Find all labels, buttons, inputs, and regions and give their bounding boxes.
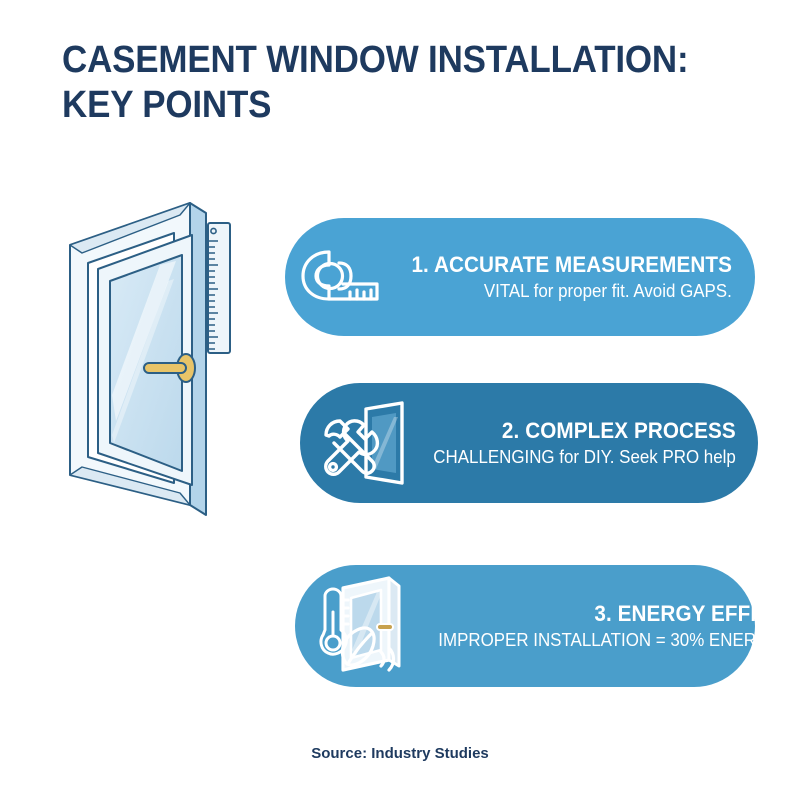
- page-title: CASEMENT WINDOW INSTALLATION: KEY POINTS: [62, 38, 688, 128]
- key-point-card-3-title: 3. ENERGY EFFICIENCY: [594, 601, 800, 626]
- key-point-card-2-text: 2. COMPLEX PROCESS CHALLENGING for DIY. …: [414, 418, 736, 468]
- ruler-icon: [208, 223, 230, 353]
- hammer-wrench-window-icon: [310, 391, 414, 495]
- page-title-line-2: KEY POINTS: [62, 83, 688, 128]
- key-point-card-3[interactable]: 3. ENERGY EFFICIENCY IMPROPER INSTALLATI…: [295, 565, 755, 687]
- tape-measure-icon: [299, 246, 391, 308]
- key-point-card-1[interactable]: 1. ACCURATE MEASUREMENTS VITAL for prope…: [285, 218, 755, 336]
- key-point-card-3-subtitle: IMPROPER INSTALLATION = 30% ENERGY LOSS.: [438, 630, 800, 651]
- key-point-card-3-text: 3. ENERGY EFFICIENCY IMPROPER INSTALLATI…: [413, 601, 800, 651]
- open-casement-window-illustration: [40, 185, 280, 535]
- page-title-line-1: CASEMENT WINDOW INSTALLATION:: [62, 38, 688, 83]
- key-point-card-2-title: 2. COMPLEX PROCESS: [502, 418, 736, 443]
- source-footer: Source: Industry Studies: [0, 745, 800, 762]
- thermometer-leaf-window-icon: [303, 570, 413, 682]
- key-point-card-1-title: 1. ACCURATE MEASUREMENTS: [411, 252, 732, 277]
- key-point-card-2-subtitle: CHALLENGING for DIY. Seek PRO help: [434, 447, 736, 468]
- key-point-card-2[interactable]: 2. COMPLEX PROCESS CHALLENGING for DIY. …: [300, 383, 758, 503]
- key-point-card-1-text: 1. ACCURATE MEASUREMENTS VITAL for prope…: [391, 252, 732, 302]
- key-point-card-1-subtitle: VITAL for proper fit. Avoid GAPS.: [484, 281, 732, 302]
